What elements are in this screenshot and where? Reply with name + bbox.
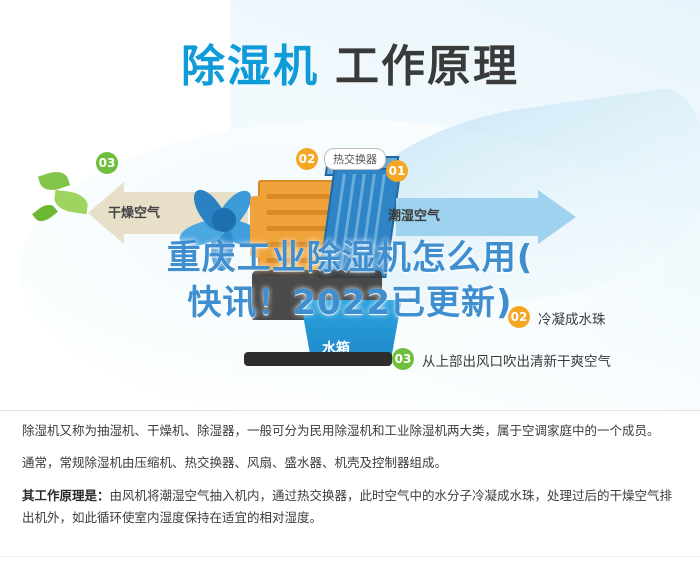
section-divider: [0, 410, 700, 411]
coil-line: [266, 194, 330, 199]
badge-03-left: 03: [96, 152, 118, 174]
infographic-panel: 除湿机工作原理 干燥空气 03: [0, 0, 700, 410]
article-paragraph-1: 除湿机又称为抽湿机、干燥机、除湿器，一般可分为民用除湿机和工业除湿机两大类，属于…: [22, 420, 678, 442]
bottom-rule: [0, 556, 700, 557]
overlay-headline-line1: 重庆工业除湿机怎么用(: [167, 238, 534, 278]
humid-air-label: 潮湿空气: [388, 205, 440, 224]
article-paragraph-3-lead: 其工作原理是：: [22, 488, 110, 503]
article-paragraph-3-text: 由风机将潮湿空气抽入机内，通过热交换器，此时空气中的水分子冷凝成水珠，处理过后的…: [22, 488, 672, 525]
article-paragraph-2: 通常，常规除湿机由压缩机、热交换器、风扇、盛水器、机壳及控制器组成。: [22, 452, 678, 474]
overlay-headline-line2: 快讯！2022已更新): [0, 281, 700, 326]
infographic-title: 除湿机工作原理: [0, 30, 700, 94]
leaf-icon: [38, 168, 70, 194]
title-secondary: 工作原理: [335, 41, 519, 92]
badge-03-outlet: 03: [392, 348, 414, 370]
title-primary: 除湿机: [181, 41, 319, 92]
outlet-label: 从上部出风口吹出清新干爽空气: [422, 350, 611, 370]
badge-02-heat-exchanger: 02: [296, 148, 318, 170]
overlay-headline: 重庆工业除湿机怎么用( 快讯！2022已更新): [0, 236, 700, 326]
dehumidifier-base: [244, 352, 392, 366]
heat-exchanger-tag: 热交换器: [324, 148, 386, 170]
coil-line: [266, 210, 330, 215]
page-root: 除湿机工作原理 干燥空气 03: [0, 0, 700, 566]
coil-line: [266, 226, 330, 231]
dry-air-label: 干燥空气: [108, 202, 160, 221]
article-body: 除湿机又称为抽湿机、干燥机、除湿器，一般可分为民用除湿机和工业除湿机两大类，属于…: [22, 420, 678, 539]
fan-hub: [212, 208, 236, 232]
article-paragraph-3: 其工作原理是：由风机将潮湿空气抽入机内，通过热交换器，此时空气中的水分子冷凝成水…: [22, 485, 678, 530]
badge-01-humid-air: 01: [386, 160, 408, 182]
